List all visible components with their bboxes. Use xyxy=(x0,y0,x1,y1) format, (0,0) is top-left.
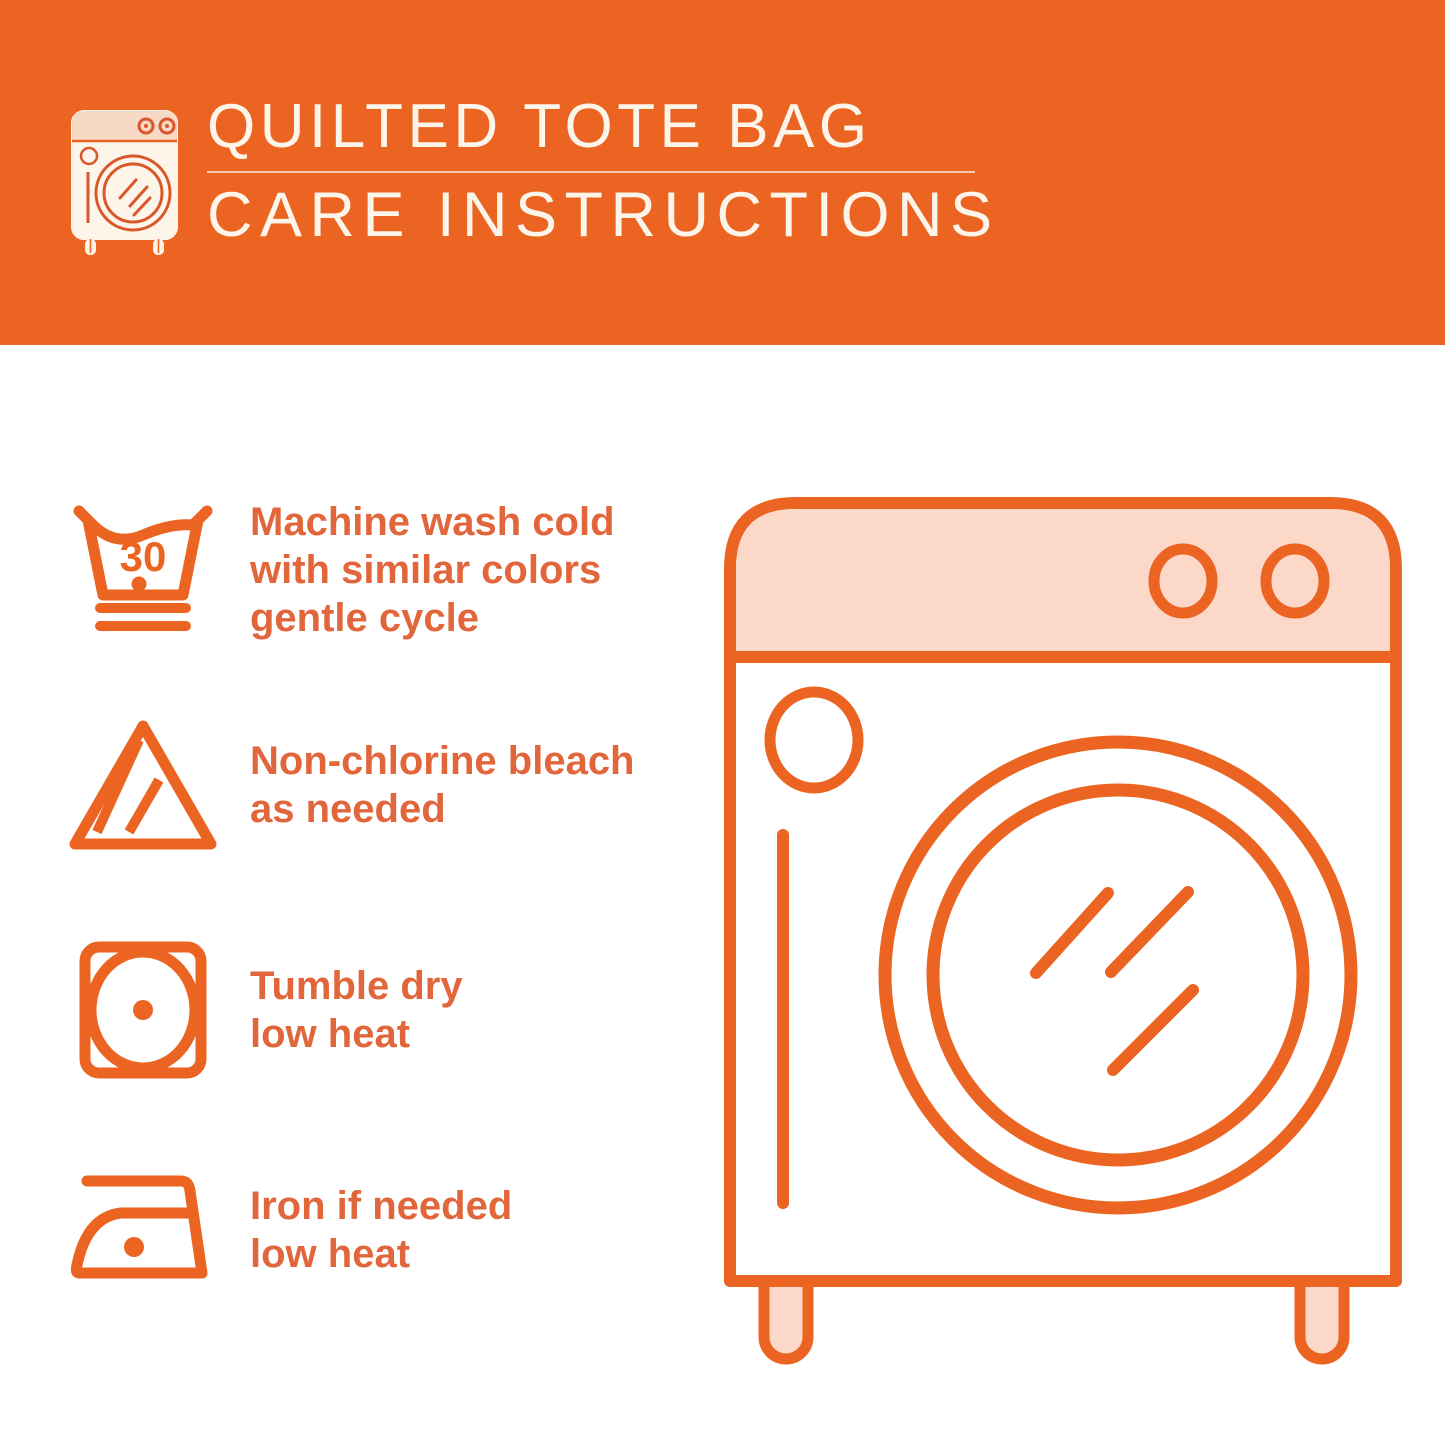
care-instruction-item-tumble-dry: Tumble dry low heat xyxy=(0,930,700,1090)
bleach-triangle-non-chlorine-icon xyxy=(58,705,228,865)
care-instruction-item-iron: Iron if needed low heat xyxy=(0,1150,700,1310)
wash-tub-30-gentle-icon: 30 xyxy=(58,490,228,650)
care-instruction-label: Tumble dry low heat xyxy=(250,962,463,1058)
header-banner: QUILTED TOTE BAG CARE INSTRUCTIONS xyxy=(0,0,1445,345)
front-load-washing-machine-illustration xyxy=(718,485,1408,1365)
care-instruction-item-machine-wash: 30 Machine wash cold with similar colors… xyxy=(0,490,700,650)
care-instructions-list: 30 Machine wash cold with similar colors… xyxy=(0,345,700,1445)
wash-temperature-label: 30 xyxy=(120,533,167,580)
care-instruction-label: Non-chlorine bleach as needed xyxy=(250,737,635,833)
care-instruction-label: Iron if needed low heat xyxy=(250,1182,512,1278)
title-divider xyxy=(207,171,975,173)
care-instruction-label: Machine wash cold with similar colors ge… xyxy=(250,498,615,642)
page-subtitle: CARE INSTRUCTIONS xyxy=(207,179,1207,251)
page-title: QUILTED TOTE BAG xyxy=(207,92,1207,162)
washing-machine-icon xyxy=(62,105,187,257)
care-instruction-item-bleach: Non-chlorine bleach as needed xyxy=(0,705,700,865)
iron-low-heat-icon xyxy=(58,1150,228,1310)
header-title-block: QUILTED TOTE BAG CARE INSTRUCTIONS xyxy=(207,92,1207,251)
machine-leg-right xyxy=(1300,1275,1344,1359)
tumble-dry-low-heat-icon xyxy=(58,930,228,1090)
machine-leg-left xyxy=(764,1275,808,1359)
